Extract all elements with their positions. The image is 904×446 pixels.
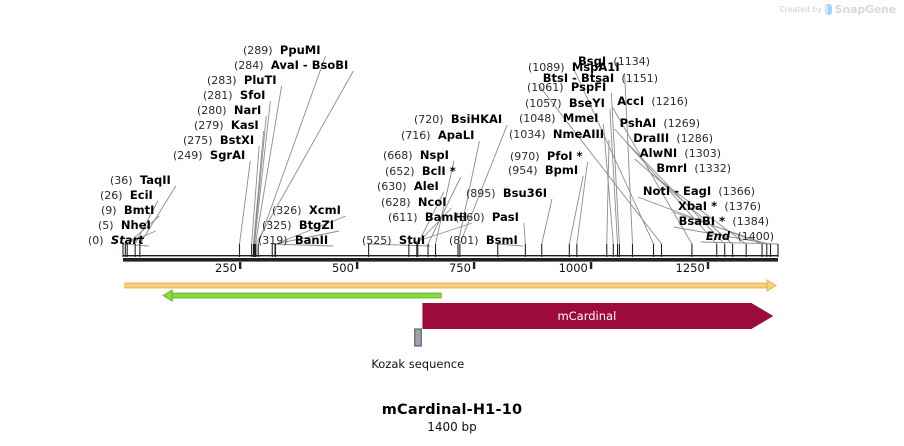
snapgene-linear-map: Created by SnapGene (0) Start(5) NheI(9)… (0, 0, 904, 446)
kozak-sequence-label: Kozak sequence (371, 357, 464, 371)
feature-tracks[interactable] (0, 0, 904, 446)
feature-arrow-shaft[interactable] (125, 283, 767, 288)
construct-size: 1400 bp (0, 420, 904, 434)
construct-title: mCardinal-H1-10 (0, 402, 904, 418)
feature-arrow-head[interactable] (767, 280, 776, 291)
gene-feature-arrow[interactable] (422, 303, 773, 329)
map-footer: mCardinal-H1-10 1400 bp (0, 402, 904, 434)
kozak-sequence-marker[interactable] (415, 329, 422, 346)
feature-arrow-head[interactable] (163, 290, 172, 301)
feature-arrow-shaft[interactable] (172, 293, 441, 298)
